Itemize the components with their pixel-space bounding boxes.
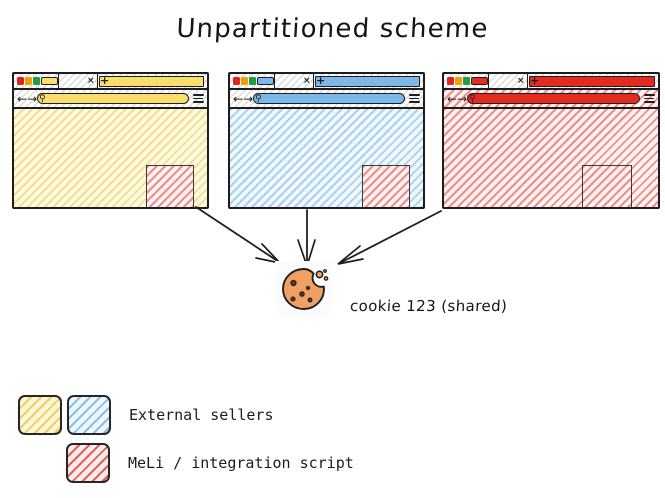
page-viewport	[230, 109, 423, 207]
legend-item-meli-script: MeLi / integration script	[66, 443, 354, 483]
search-icon: ⚲	[469, 93, 476, 105]
tab-bar: × +	[14, 74, 207, 90]
tab-close-icon[interactable]: ×	[87, 75, 95, 87]
maximize-window-dot[interactable]	[249, 77, 256, 85]
tab-active[interactable]	[99, 76, 204, 87]
minimize-window-dot[interactable]	[455, 77, 462, 85]
back-icon[interactable]: ←	[233, 93, 242, 105]
maximize-window-dot[interactable]	[463, 77, 470, 85]
window-title-pill	[257, 77, 274, 85]
hamburger-icon[interactable]	[193, 92, 204, 105]
window-title-pill	[41, 77, 58, 85]
arrow-yellow-to-cookie	[196, 207, 279, 262]
forward-icon[interactable]: →	[243, 93, 252, 105]
close-window-dot[interactable]	[447, 77, 454, 85]
back-icon[interactable]: ←	[17, 93, 26, 105]
legend-label: External sellers	[129, 406, 274, 424]
close-window-dot[interactable]	[17, 77, 24, 85]
new-tab-icon[interactable]: +	[100, 74, 109, 88]
window-controls[interactable]	[17, 77, 58, 85]
tab-close-icon[interactable]: ×	[303, 75, 311, 87]
back-icon[interactable]: ←	[447, 93, 456, 105]
url-input[interactable]: ⚲	[253, 93, 405, 104]
toolbar: ← → ⚲	[230, 90, 423, 109]
legend-swatch-red	[66, 443, 110, 483]
forward-icon[interactable]: →	[457, 93, 466, 105]
tab-bar: × +	[230, 74, 423, 90]
hamburger-icon[interactable]	[644, 92, 655, 105]
url-input[interactable]: ⚲	[467, 93, 640, 104]
maximize-window-dot[interactable]	[33, 77, 40, 85]
tab-close-icon[interactable]: ×	[517, 75, 525, 87]
page-title: Unpartitioned scheme	[0, 14, 665, 44]
tab-active[interactable]	[315, 76, 420, 87]
search-icon: ⚲	[255, 93, 262, 105]
window-title-pill	[471, 77, 488, 85]
legend-item-external-sellers: External sellers	[18, 395, 274, 435]
url-input[interactable]: ⚲	[37, 93, 189, 104]
nav-buttons[interactable]: ← →	[17, 93, 36, 105]
search-icon: ⚲	[39, 93, 46, 105]
new-tab-icon[interactable]: +	[316, 74, 325, 88]
embedded-iframe-meli[interactable]	[582, 165, 632, 208]
nav-buttons[interactable]: ← →	[447, 93, 466, 105]
legend-swatch-yellow	[18, 395, 62, 435]
browser-window-red[interactable]: × + ← → ⚲	[442, 72, 660, 209]
nav-buttons[interactable]: ← →	[233, 93, 252, 105]
toolbar: ← → ⚲	[444, 90, 658, 109]
cookie-icon	[275, 261, 333, 317]
close-window-dot[interactable]	[233, 77, 240, 85]
minimize-window-dot[interactable]	[25, 77, 32, 85]
forward-icon[interactable]: →	[27, 93, 36, 105]
toolbar: ← → ⚲	[14, 90, 207, 109]
tab-bar: × +	[444, 74, 658, 90]
cookie-label: cookie 123 (shared)	[350, 297, 508, 315]
browser-window-blue[interactable]: × + ← → ⚲	[228, 72, 425, 209]
window-controls[interactable]	[233, 77, 274, 85]
embedded-iframe-meli[interactable]	[146, 165, 194, 208]
new-tab-icon[interactable]: +	[530, 74, 539, 88]
tab-active[interactable]	[529, 76, 655, 87]
minimize-window-dot[interactable]	[241, 77, 248, 85]
page-viewport	[444, 109, 658, 207]
hamburger-icon[interactable]	[409, 92, 420, 105]
page-viewport	[14, 109, 207, 207]
window-controls[interactable]	[447, 77, 488, 85]
arrow-red-to-cookie	[340, 211, 441, 263]
legend-swatch-blue	[67, 395, 111, 435]
browser-window-yellow[interactable]: × + ← → ⚲	[12, 72, 209, 209]
embedded-iframe-meli[interactable]	[362, 165, 410, 208]
legend-label: MeLi / integration script	[128, 454, 354, 472]
